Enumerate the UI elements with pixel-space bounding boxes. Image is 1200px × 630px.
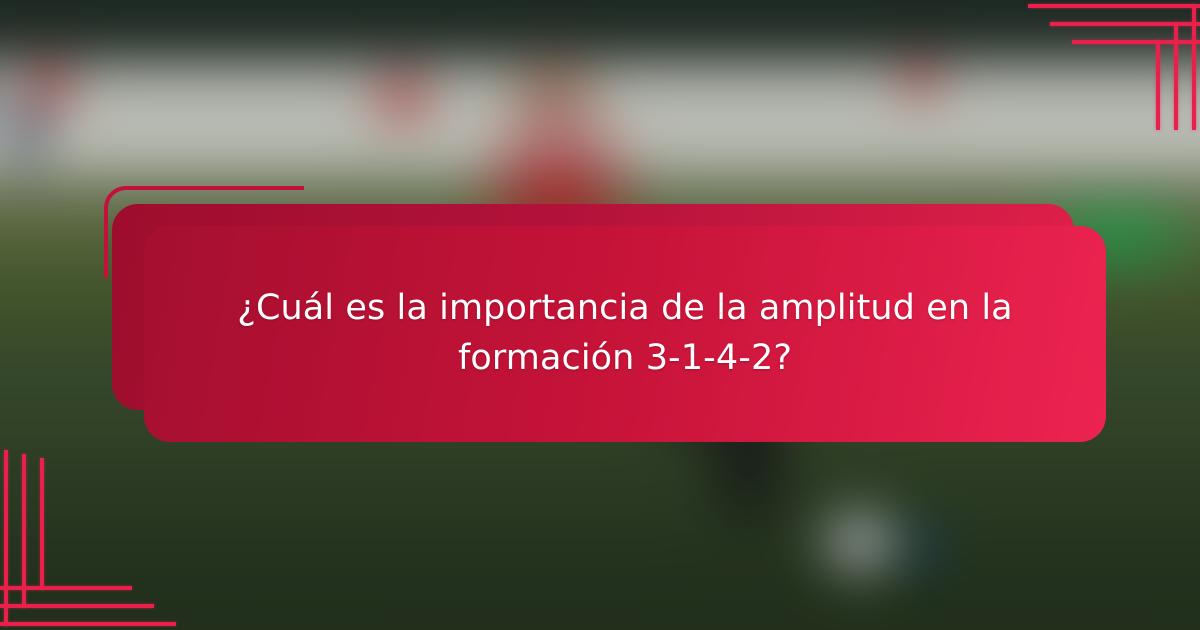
question-card-stack: ¿Cuál es la importancia de la amplitud e… [104,186,1096,448]
question-card: ¿Cuál es la importancia de la amplitud e… [144,226,1106,442]
social-card-canvas: ¿Cuál es la importancia de la amplitud e… [0,0,1200,630]
question-text: ¿Cuál es la importancia de la amplitud e… [195,284,1055,383]
